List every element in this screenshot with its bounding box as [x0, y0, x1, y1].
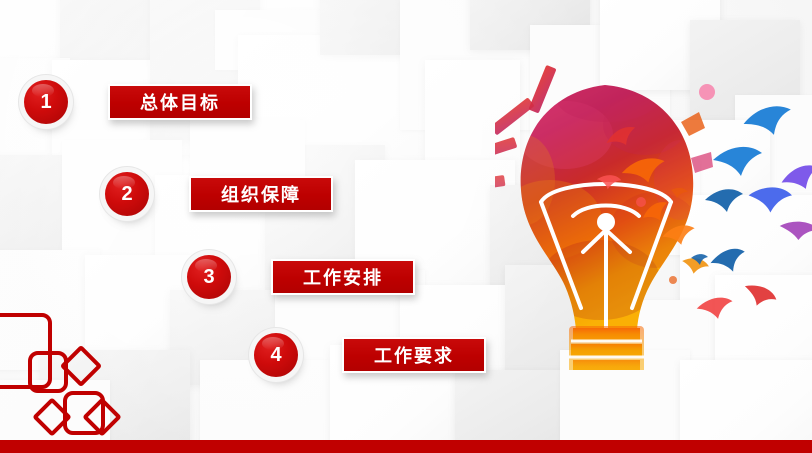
corner-decoration-group [0, 303, 160, 433]
agenda-item-2[interactable]: 2 组织保障 [105, 172, 333, 216]
footer-accent-bar [0, 440, 812, 453]
deco-rounded-square-medium [63, 391, 105, 435]
deco-diamond-tiny [32, 397, 72, 437]
agenda-item-1[interactable]: 1 总体目标 [24, 80, 252, 124]
agenda-label-2[interactable]: 组织保障 [189, 176, 333, 212]
deco-rounded-square-large [0, 313, 52, 389]
deco-rounded-square-small [28, 351, 68, 393]
watercolor-lightbulb-icon [495, 30, 812, 370]
bulb-base [569, 326, 644, 370]
agenda-number-badge-4[interactable]: 4 [254, 333, 298, 377]
agenda-label-4[interactable]: 工作要求 [342, 337, 486, 373]
agenda-number-badge-1[interactable]: 1 [24, 80, 68, 124]
slide-canvas: 1 总体目标 2 组织保障 3 工作安排 4 工作要求 [0, 0, 812, 453]
agenda-number-badge-3[interactable]: 3 [187, 255, 231, 299]
agenda-item-3[interactable]: 3 工作安排 [187, 255, 415, 299]
agenda-number-badge-2[interactable]: 2 [105, 172, 149, 216]
agenda-item-4[interactable]: 4 工作要求 [254, 333, 486, 377]
agenda-label-3[interactable]: 工作安排 [271, 259, 415, 295]
agenda-label-1[interactable]: 总体目标 [108, 84, 252, 120]
deco-diamond-small [60, 345, 102, 387]
deco-diamond-medium [82, 397, 122, 437]
